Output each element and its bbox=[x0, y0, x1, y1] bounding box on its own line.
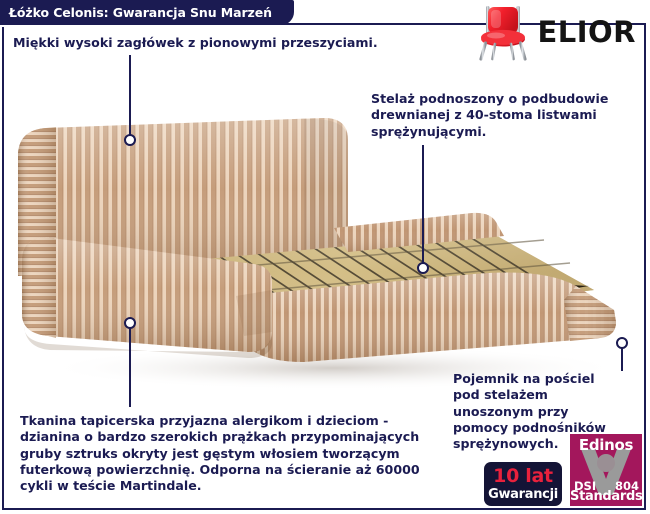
brand-logo: ELIOR bbox=[475, 3, 636, 61]
brand-name: ELIOR bbox=[537, 18, 636, 47]
marker-headboard[interactable] bbox=[124, 134, 136, 146]
callout-headboard: Miękki wysoki zagłówek z pionowymi przes… bbox=[13, 35, 443, 51]
edinos-title: Edinos bbox=[570, 436, 642, 454]
badge-group: 10 lat Gwarancji Edinos DSI 804 Standard… bbox=[484, 434, 642, 506]
marker-slats[interactable] bbox=[417, 262, 429, 274]
leader-line-slats bbox=[422, 145, 424, 268]
bed-photo bbox=[4, 100, 646, 390]
warranty-years: 10 lat bbox=[493, 467, 553, 486]
red-chair-icon bbox=[475, 3, 531, 61]
page-title: Łóżko Celonis: Gwarancja Snu Marzeń bbox=[0, 0, 294, 25]
edinos-badge: Edinos DSI 804 Standards bbox=[570, 434, 642, 506]
warranty-label: Gwarancji bbox=[488, 488, 558, 501]
leader-line-fabric bbox=[129, 323, 131, 407]
marker-fabric[interactable] bbox=[124, 317, 136, 329]
bed-illustration bbox=[4, 100, 646, 390]
edinos-standards: Standards bbox=[570, 489, 642, 504]
product-infographic: Łóżko Celonis: Gwarancja Snu Marzeń bbox=[0, 0, 650, 514]
callout-slats: Stelaż podnoszony o podbudowie drewniane… bbox=[371, 91, 639, 140]
page-title-text: Łóżko Celonis: Gwarancja Snu Marzeń bbox=[9, 5, 272, 20]
marker-storage[interactable] bbox=[616, 337, 628, 349]
leader-line-headboard bbox=[129, 55, 131, 140]
callout-fabric: Tkanina tapicerska przyjazna alergikom i… bbox=[20, 413, 420, 495]
warranty-badge: 10 lat Gwarancji bbox=[484, 462, 562, 506]
